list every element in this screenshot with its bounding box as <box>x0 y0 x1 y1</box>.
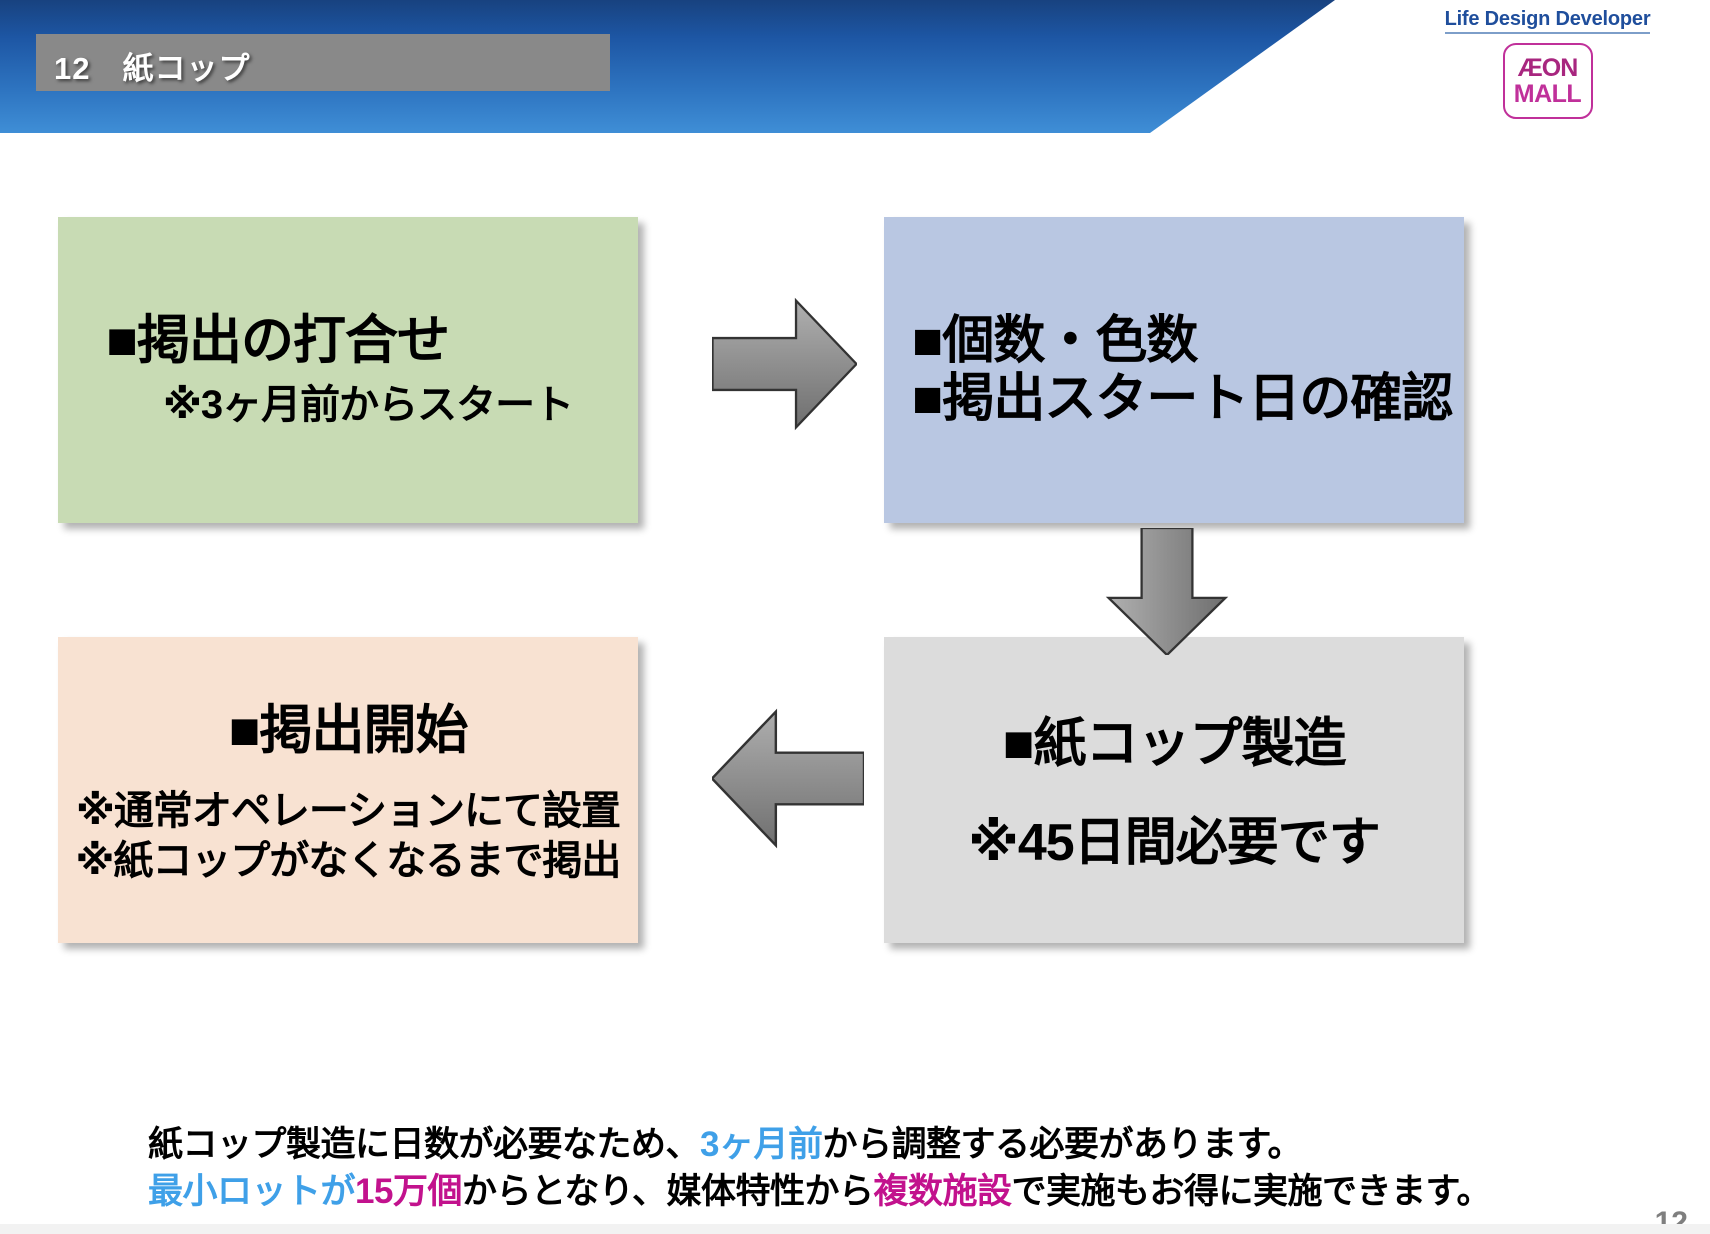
footer-l1-part2: から調整する必要があります。 <box>822 1125 1302 1164</box>
arrow-down-icon <box>1095 528 1239 655</box>
flow-box-quantity-main: ■個数・色数 <box>912 312 1464 370</box>
slide-root: 12 紙コップ Life Design Developer ÆON MALL ■… <box>0 0 1710 1234</box>
bottom-strip <box>0 1224 1710 1234</box>
brand-tagline: Life Design Developer <box>1445 8 1651 34</box>
footer-l2-highlight2: 15万個 <box>355 1172 462 1211</box>
flow-box-quantity-stack: ■個数・色数 ■掲出スタート日の確認 <box>884 312 1464 428</box>
footer-l2-part2: で実施もお得に実施できます。 <box>1012 1172 1492 1211</box>
footer-l1-part1: 紙コップ製造に日数が必要なため、 <box>148 1125 700 1164</box>
flow-box-start-main: ■掲出開始 <box>228 701 467 760</box>
aeon-mall-logo: ÆON MALL <box>1503 43 1593 119</box>
footer-l2-part1: からとなり、媒体特性から <box>462 1172 874 1211</box>
footer-l2-highlight1: 最小ロットが <box>148 1172 355 1211</box>
flow-box-start: ■掲出開始 ※通常オペレーションにて設置 ※紙コップがなくなるまで掲出 <box>58 637 638 943</box>
flow-box-meeting-sub-1: ※3ヶ月前からスタート <box>163 382 573 429</box>
flow-box-manufacture: ■紙コップ製造 ※45日間必要です <box>884 637 1464 943</box>
flow-box-meeting: ■掲出の打合せ ※3ヶ月前からスタート <box>58 217 638 523</box>
page-title: 12 紙コップ <box>54 43 250 88</box>
flow-box-manufacture-sub-1: ※45日間必要です <box>968 813 1379 874</box>
flow-box-quantity-sub-1: ■掲出スタート日の確認 <box>912 370 1464 428</box>
arrow-left-icon <box>712 700 864 857</box>
arrow-right-icon <box>712 292 857 436</box>
flow-box-start-sub-2: ※紙コップがなくなるまで掲出 <box>76 838 621 885</box>
flow-box-start-sub-1: ※通常オペレーションにて設置 <box>76 788 620 835</box>
flow-box-quantity: ■個数・色数 ■掲出スタート日の確認 <box>884 217 1464 523</box>
footer-line-2: 最小ロットが15万個からとなり、媒体特性から複数施設で実施もお得に実施できます。 <box>148 1169 1491 1216</box>
mall-logo-text: MALL <box>1514 82 1581 107</box>
footer-l1-highlight1: 3ヶ月前 <box>700 1125 822 1164</box>
brand-block: Life Design Developer ÆON MALL <box>1415 8 1680 119</box>
flow-box-manufacture-main: ■紙コップ製造 <box>1002 714 1345 773</box>
footer-line-1: 紙コップ製造に日数が必要なため、3ヶ月前から調整する必要があります。 <box>148 1122 1491 1169</box>
footer-note: 紙コップ製造に日数が必要なため、3ヶ月前から調整する必要があります。 最小ロット… <box>148 1122 1491 1215</box>
aeon-logo-text: ÆON <box>1518 56 1578 81</box>
footer-l2-highlight3: 複数施設 <box>874 1172 1012 1211</box>
flow-box-meeting-main: ■掲出の打合せ <box>106 311 449 370</box>
